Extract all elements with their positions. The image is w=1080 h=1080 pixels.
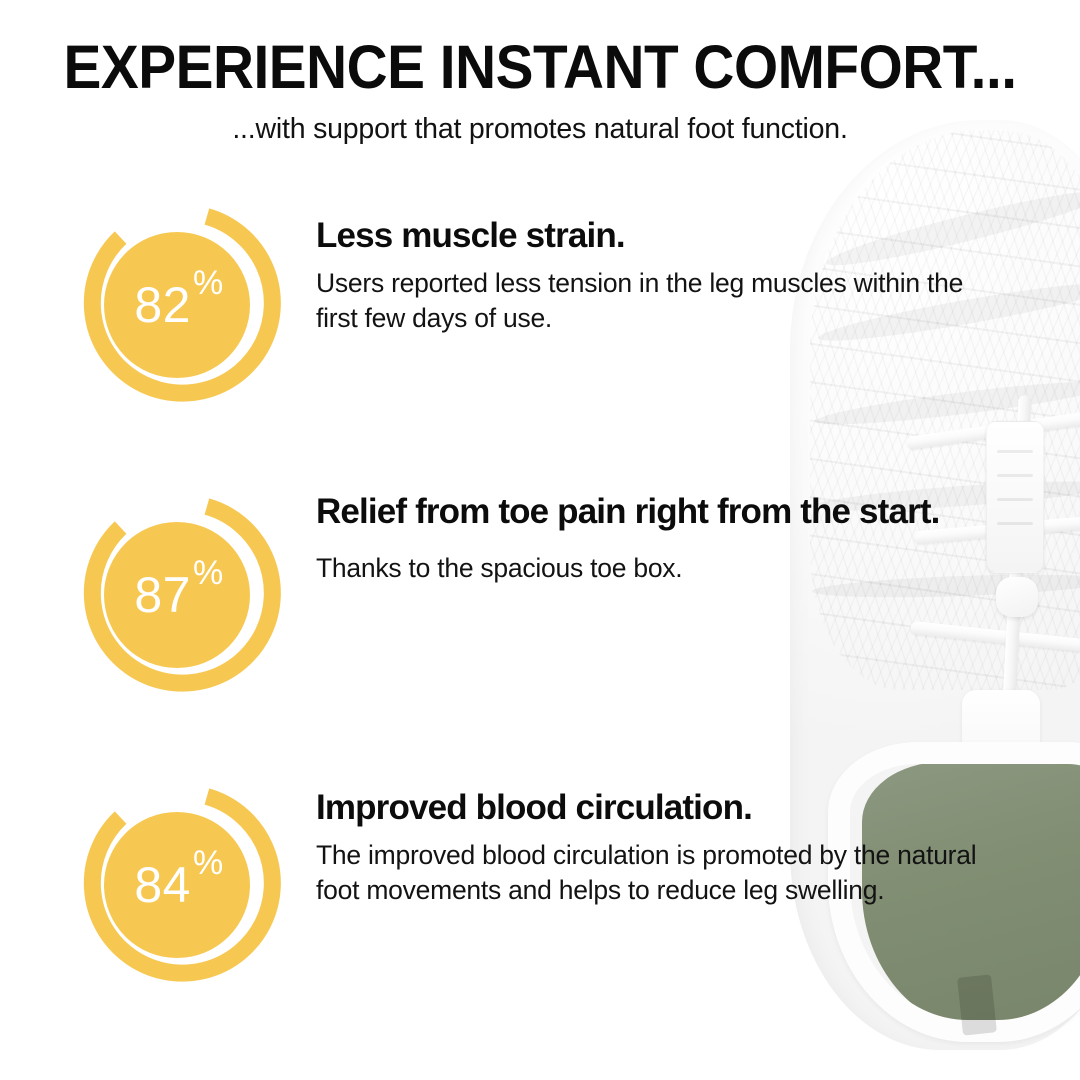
percentage-number: 87 bbox=[134, 566, 191, 624]
percentage-value: 84% bbox=[62, 770, 292, 1000]
stat-row: 82% Less muscle strain. Users reported l… bbox=[0, 180, 1080, 470]
percentage-value: 87% bbox=[62, 480, 292, 710]
percentage-value: 82% bbox=[62, 190, 292, 420]
poster-header: EXPERIENCE INSTANT COMFORT... ...with su… bbox=[0, 36, 1080, 146]
stat-text-block: Less muscle strain. Users reported less … bbox=[292, 180, 1080, 336]
stat-title: Improved blood circulation. bbox=[316, 788, 1016, 829]
stat-description: The improved blood circulation is promot… bbox=[316, 838, 988, 908]
stat-description: Users reported less tension in the leg m… bbox=[316, 266, 988, 336]
stat-title: Less muscle strain. bbox=[316, 216, 1016, 257]
stat-text-block: Relief from toe pain right from the star… bbox=[292, 470, 1080, 586]
percentage-number: 84 bbox=[134, 856, 191, 914]
stat-list: 82% Less muscle strain. Users reported l… bbox=[0, 180, 1080, 1050]
stat-description: Thanks to the spacious toe box. bbox=[316, 551, 988, 586]
page-title: EXPERIENCE INSTANT COMFORT... bbox=[38, 36, 1042, 98]
percentage-badge: 82% bbox=[62, 190, 292, 420]
stat-title: Relief from toe pain right from the star… bbox=[316, 492, 1016, 533]
percentage-number: 82 bbox=[134, 276, 191, 334]
stat-row: 87% Relief from toe pain right from the … bbox=[0, 470, 1080, 760]
percent-symbol: % bbox=[193, 844, 224, 883]
page-subtitle: ...with support that promotes natural fo… bbox=[0, 112, 1080, 146]
percent-symbol: % bbox=[193, 554, 224, 593]
percent-symbol: % bbox=[193, 264, 224, 303]
infographic-poster: EXPERIENCE INSTANT COMFORT... ...with su… bbox=[0, 0, 1080, 1080]
percentage-badge: 84% bbox=[62, 770, 292, 1000]
stat-text-block: Improved blood circulation. The improved… bbox=[292, 760, 1080, 908]
percentage-badge: 87% bbox=[62, 480, 292, 710]
stat-row: 84% Improved blood circulation. The impr… bbox=[0, 760, 1080, 1050]
